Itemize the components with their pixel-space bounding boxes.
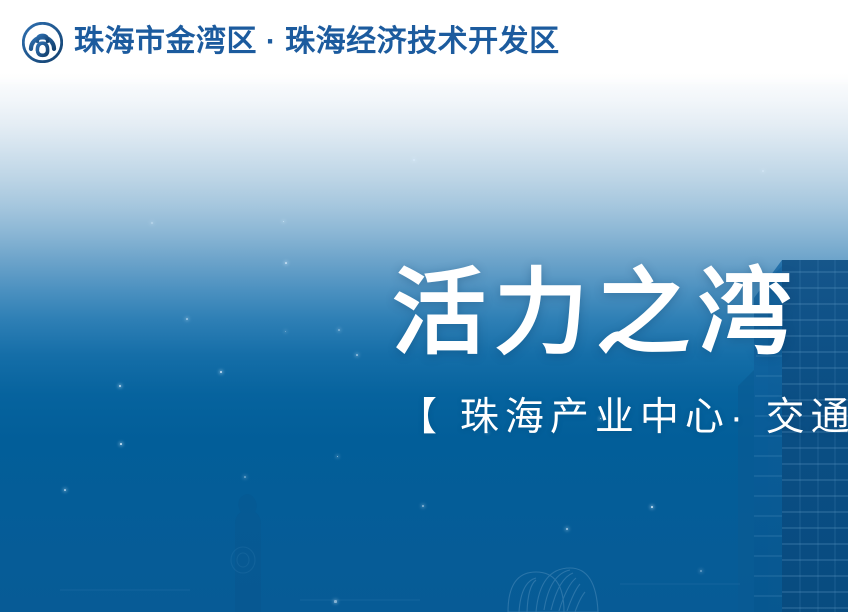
header-title: 珠海市金湾区 · 珠海经济技术开发区 <box>74 27 560 57</box>
page-subtitle: 【 珠海产业中心· 交通 <box>398 398 848 437</box>
page-root: 活力之湾 【 珠海产业中心· 交通 珠海市金湾区 · 珠海经济技术开发区 <box>0 0 848 612</box>
gate-arch-circle-logo-icon[interactable] <box>22 22 63 63</box>
dome-arena-silhouette-icon <box>508 568 598 612</box>
site-header: 珠海市金湾区 · 珠海经济技术开发区 <box>22 18 560 66</box>
bottom-landmark-decor <box>0 472 848 612</box>
tower-silhouette-icon <box>235 494 261 612</box>
page-title: 活力之湾 <box>392 266 800 360</box>
